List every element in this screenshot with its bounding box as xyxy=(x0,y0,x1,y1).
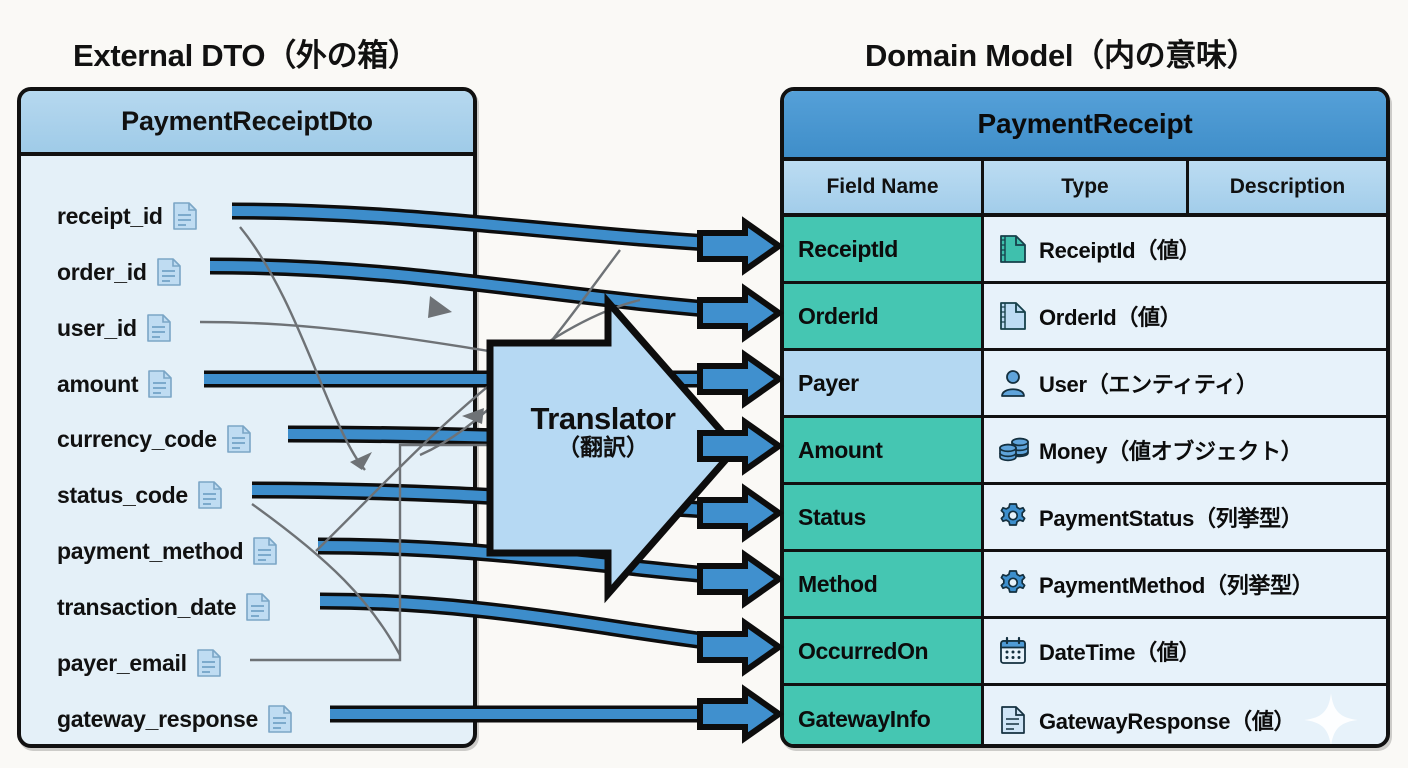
row-arrowheads xyxy=(0,0,1408,768)
diagram-canvas: External DTO（外の箱） Domain Model（内の意味） xyxy=(0,0,1408,768)
